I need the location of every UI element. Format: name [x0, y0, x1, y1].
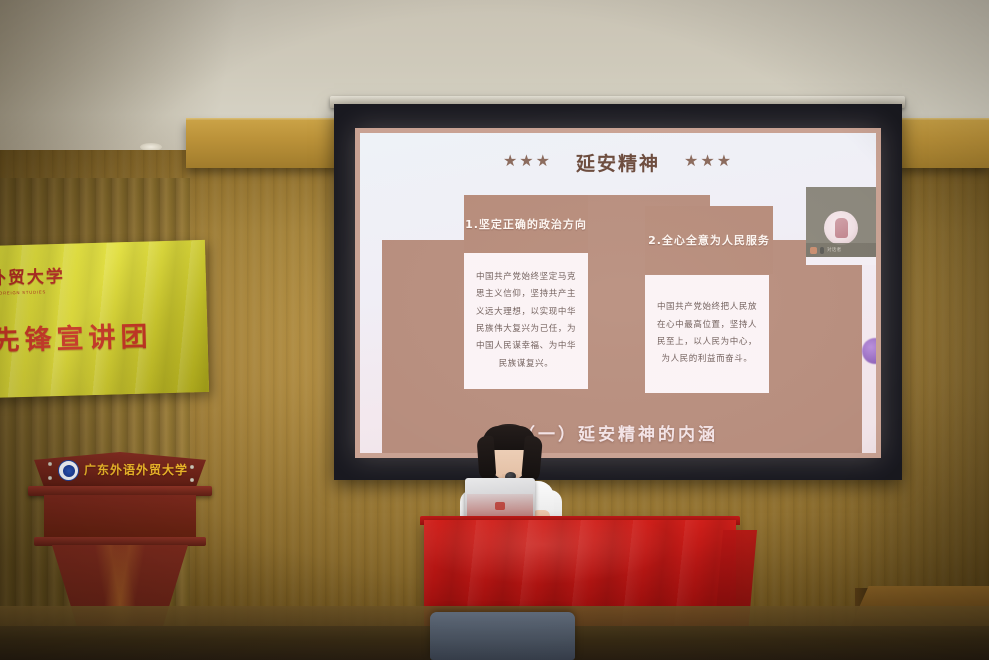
- lectern-university-text: 广东外语外贸大学: [84, 461, 188, 478]
- card-body-text: 中国共产党始终坚定马克思主义信仰，坚持共产主义远大理想，以实现中华民族伟大复兴为…: [474, 269, 578, 374]
- presenter-hair-right: [521, 435, 543, 482]
- university-emblem-icon: [58, 460, 79, 481]
- lectern-body: [44, 495, 196, 539]
- card-heading-text: 1.坚定正确的政治方向: [465, 216, 587, 232]
- slide-title-bar: ★★★ 延安精神 ★★★: [360, 133, 876, 191]
- slide-card-body-1: 中国共产党始终坚定马克思主义信仰，坚持共产主义远大理想，以实现中华民族伟大复兴为…: [464, 253, 588, 389]
- lectern-screw: [48, 476, 52, 480]
- laptop-icon[interactable]: [465, 478, 535, 520]
- person-avatar-icon: [835, 218, 848, 238]
- participant-avatar: [824, 211, 858, 245]
- lectern-screw: [190, 478, 194, 482]
- laptop-lid: [465, 478, 535, 518]
- projected-slide: ★★★ 延安精神 ★★★ 1.坚定正确的政治方向 中国共产党始终坚定马克思主义信…: [355, 128, 881, 458]
- microphone-icon: [820, 247, 824, 254]
- slide-content-area: ★★★ 延安精神 ★★★ 1.坚定正确的政治方向 中国共产党始终坚定马克思主义信…: [360, 133, 876, 453]
- presenter-hair-left: [476, 435, 496, 480]
- slide-card-heading-1: 1.坚定正确的政治方向: [464, 195, 588, 253]
- emblem-inner: [63, 465, 75, 477]
- card-heading-text: 2.全心全意为人民服务: [648, 232, 770, 248]
- video-call-status-bar: 对话者: [806, 243, 876, 257]
- video-call-tile[interactable]: 对话者: [806, 187, 876, 257]
- lecture-hall-photo: ★★★ 延安精神 ★★★ 1.坚定正确的政治方向 中国共产党始终坚定马克思主义信…: [0, 0, 989, 660]
- participant-label: 对话者: [827, 247, 841, 253]
- slide-title: 延安精神: [576, 149, 660, 176]
- card-body-text: 中国共产党始终把人民放在心中最高位置，坚持人民至上，以人民为中心，为人民的利益而…: [655, 299, 759, 369]
- slide-caption: （一）延安精神的内涵: [360, 420, 876, 445]
- projection-screen: ★★★ 延安精神 ★★★ 1.坚定正确的政治方向 中国共产党始终坚定马克思主义信…: [334, 104, 902, 480]
- lectern-screw: [48, 462, 52, 466]
- laptop-brand-logo: [495, 502, 505, 510]
- slide-card-body-2: 中国共产党始终把人民放在心中最高位置，坚持人民至上，以人民为中心，为人民的利益而…: [645, 275, 769, 393]
- lectern-screw: [190, 465, 194, 469]
- stars-left-icon: ★★★: [503, 154, 552, 170]
- lectern-ledge-lower: [34, 537, 206, 546]
- stars-right-icon: ★★★: [684, 154, 733, 170]
- banner-shading: [0, 240, 209, 398]
- slide-card-heading-2: 2.全心全意为人民服务: [645, 206, 773, 274]
- chair-backrest: [430, 612, 575, 660]
- participants-icon: [810, 247, 817, 254]
- slide-white-accent: [806, 257, 876, 265]
- purple-circle-decoration: [862, 338, 876, 364]
- yellow-banner: 外语外贸大学 UNIVERSITY OF FOREIGN STUDIES 山先锋…: [0, 240, 209, 398]
